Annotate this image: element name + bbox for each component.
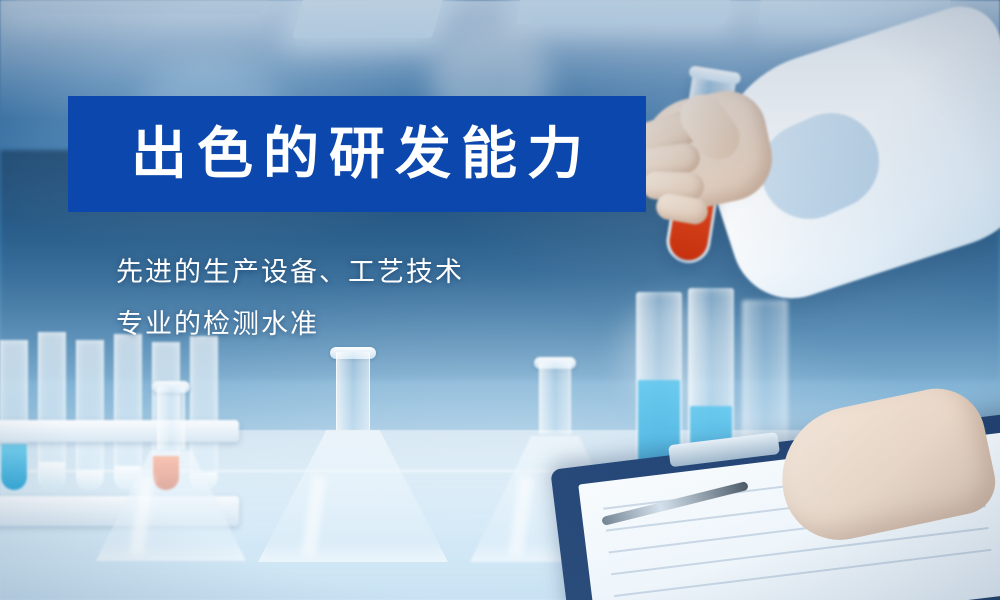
erlenmeyer-flask [258,352,448,562]
clear-sample-liquid [39,462,65,490]
test-tube [38,332,66,490]
paper-line [614,549,991,597]
test-tube-rim [688,65,741,85]
small-flask [96,386,246,561]
subtitle-line-1: 先进的生产设备、工艺技术 [116,250,464,289]
ceiling-light-panel [292,0,448,38]
flask-body [96,451,246,561]
flask-neck [539,362,571,434]
flask-body [258,430,448,562]
lab-background-photo [0,0,1000,600]
subtitle-line-2: 专业的检测水准 [116,302,319,341]
blue-sample-liquid [1,444,27,490]
page-title: 出色的研发能力 [121,126,593,182]
flask-neck [336,352,370,430]
ceiling-light-panel [11,0,279,14]
hero-banner: 出色的研发能力 先进的生产设备、工艺技术 专业的检测水准 [0,0,1000,600]
headline-box: 出色的研发能力 [68,96,646,212]
test-tube [0,340,28,490]
flask-neck [157,386,185,450]
paper-line [611,527,988,575]
